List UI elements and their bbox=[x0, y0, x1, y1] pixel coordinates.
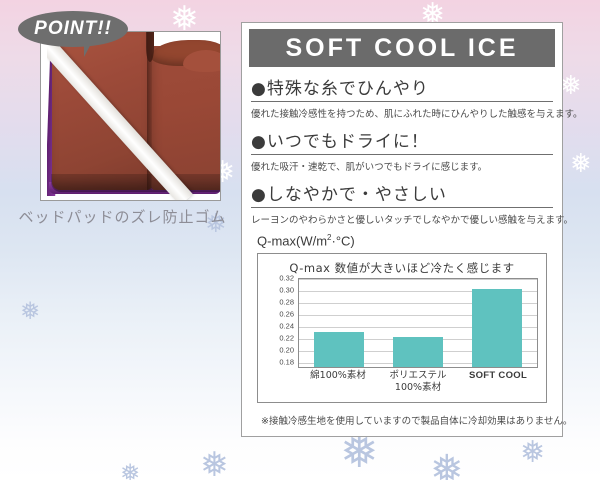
qmax-unit-main: Q-max(W/m bbox=[257, 233, 327, 248]
chart-bar bbox=[393, 337, 443, 367]
chart-y-tick: 0.30 bbox=[279, 286, 294, 295]
chart-y-axis: 0.320.300.280.260.240.220.200.18 bbox=[266, 278, 296, 368]
chart-y-tick: 0.22 bbox=[279, 334, 294, 343]
feature-description: 優れた接触冷感性を持つため、肌にふれた時にひんやりした触感を与えます。 bbox=[251, 106, 553, 120]
feature-item-2: ●いつでもドライに！ 優れた吸汗・速乾で、肌がいつでもドライに感じます。 bbox=[251, 127, 553, 173]
chart-x-label: 綿100%素材 bbox=[298, 370, 378, 394]
chart-x-axis-labels: 綿100%素材ポリエステル100%素材SOFT COOL bbox=[298, 370, 538, 394]
chart-bar bbox=[472, 289, 522, 367]
qmax-unit-tail: ·°C) bbox=[332, 233, 355, 248]
chart-title: Q-max 数値が大きいほど冷たく感じます bbox=[258, 254, 546, 276]
feature-description: 優れた吸汗・速乾で、肌がいつでもドライに感じます。 bbox=[251, 159, 553, 173]
chart-plot bbox=[298, 278, 538, 368]
promo-banner: ❅❅❅❅❅❅❅❅❅❅❅❅ POINT!! ベッドパッドのズレ防止ゴム SOFT … bbox=[0, 0, 600, 480]
feature-heading: ●しなやかで・やさしい bbox=[251, 180, 553, 208]
feature-description: レーヨンのやわらかさと優しいタッチでしなやかで優しい感触を与えます。 bbox=[251, 212, 553, 226]
chart-y-tick: 0.32 bbox=[279, 274, 294, 283]
point-badge: POINT!! bbox=[18, 11, 128, 47]
qmax-unit-label: Q-max(W/m2·°C) bbox=[257, 233, 553, 248]
chart-x-label: ポリエステル100%素材 bbox=[378, 370, 458, 394]
chart-x-label-line: 100%素材 bbox=[378, 382, 458, 394]
card-header: SOFT COOL ICE bbox=[249, 29, 555, 67]
snowflake-icon: ❅ bbox=[570, 150, 592, 176]
chart-y-tick: 0.20 bbox=[279, 346, 294, 355]
card-body: ●特殊な糸でひんやり 優れた接触冷感性を持つため、肌にふれた時にひんやりした触感… bbox=[242, 67, 562, 427]
snowflake-icon: ❅ bbox=[560, 72, 582, 98]
snowflake-icon: ❅ bbox=[520, 438, 545, 468]
feature-item-3: ●しなやかで・やさしい レーヨンのやわらかさと優しいタッチでしなやかで優しい感触… bbox=[251, 180, 553, 226]
photo-caption: ベッドパッドのズレ防止ゴム bbox=[10, 206, 235, 227]
chart-x-label-line: 綿100%素材 bbox=[298, 370, 378, 382]
chart-x-label: SOFT COOL bbox=[458, 370, 538, 394]
bed-pad-photo bbox=[40, 31, 221, 201]
chart-y-tick: 0.28 bbox=[279, 298, 294, 307]
feature-item-1: ●特殊な糸でひんやり 優れた接触冷感性を持つため、肌にふれた時にひんやりした触感… bbox=[251, 74, 553, 120]
feature-heading: ●特殊な糸でひんやり bbox=[251, 74, 553, 102]
qmax-bar-chart: Q-max 数値が大きいほど冷たく感じます 0.320.300.280.260.… bbox=[257, 253, 547, 403]
pad-hem bbox=[51, 174, 221, 192]
snowflake-icon: ❅ bbox=[200, 448, 229, 480]
chart-bar bbox=[314, 332, 364, 367]
point-badge-label: POINT!! bbox=[34, 18, 112, 40]
snowflake-icon: ❅ bbox=[20, 300, 40, 324]
snowflake-icon: ❅ bbox=[120, 462, 140, 480]
chart-y-tick: 0.18 bbox=[279, 358, 294, 367]
pad-quilt-wave-secondary bbox=[183, 50, 221, 72]
pad-seam-top bbox=[146, 32, 154, 62]
chart-y-tick: 0.26 bbox=[279, 310, 294, 319]
chart-x-label-line: SOFT COOL bbox=[458, 370, 538, 382]
chart-y-tick: 0.24 bbox=[279, 322, 294, 331]
feature-heading: ●いつでもドライに！ bbox=[251, 127, 553, 155]
chart-x-label-line: ポリエステル bbox=[378, 370, 458, 382]
chart-footnote: ※接触冷感生地を使用していますので製品自体に冷却効果はありません。 bbox=[261, 413, 543, 427]
snowflake-icon: ❅ bbox=[430, 450, 464, 480]
info-card: SOFT COOL ICE ●特殊な糸でひんやり 優れた接触冷感性を持つため、肌… bbox=[241, 22, 563, 437]
chart-bars bbox=[299, 279, 537, 367]
bed-pad-photo-image bbox=[47, 32, 221, 201]
card-title: SOFT COOL ICE bbox=[286, 34, 519, 63]
chart-plot-area: 0.320.300.280.260.240.220.200.18 綿100%素材… bbox=[266, 278, 538, 398]
